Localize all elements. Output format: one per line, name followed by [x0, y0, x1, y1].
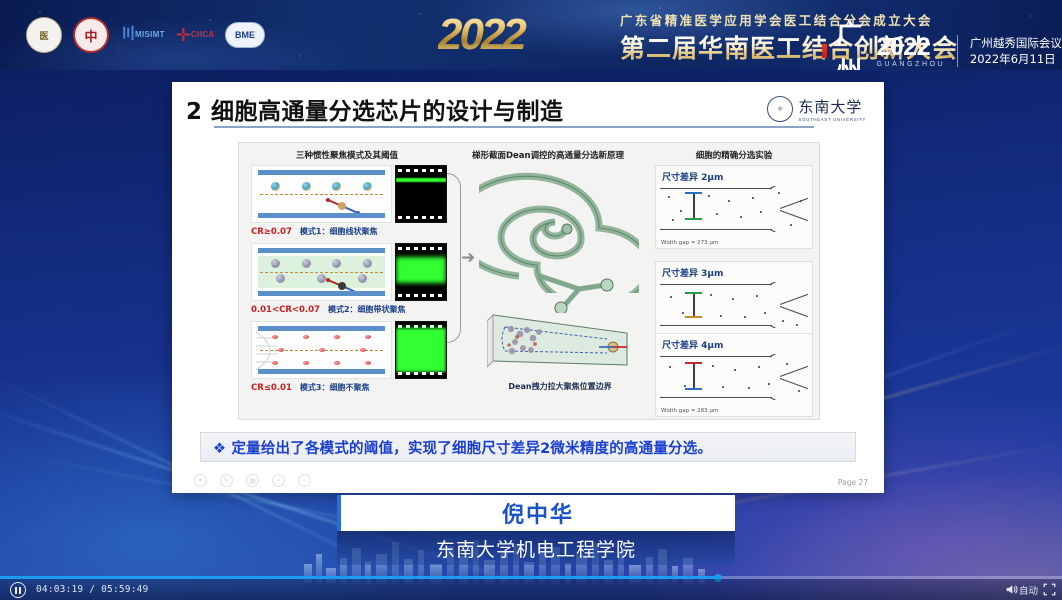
city-name-en: GUANGZHOU — [876, 61, 945, 68]
mode-1-description: 模式1：细胞线状聚焦 — [300, 226, 378, 237]
grouping-brace — [447, 173, 461, 343]
conclusion-banner: ❖ 定量给出了各模式的阈值，实现了细胞尺寸差异2微米精度的高通量分选。 — [200, 432, 856, 462]
mode-1-caption: CR≥0.07 模式1：细胞线状聚焦 — [251, 226, 447, 240]
time-display: 04:03:19 / 05:59:49 — [36, 584, 148, 595]
city-name: 广州 — [836, 14, 867, 70]
university-name-cn: 东南大学 — [798, 96, 866, 117]
fullscreen-button[interactable] — [1043, 583, 1056, 596]
venue-name: 广州越秀国际会议中心 — [970, 35, 1062, 51]
speaker-name: 倪中华 — [502, 497, 574, 529]
university-name-en: SOUTHEAST UNIVERSITY — [798, 117, 866, 122]
channel-diagram — [251, 165, 392, 223]
conference-header-banner: 医 中 〣MISIMT ✛CHCA BME 2022 广东省精准医学应用学会医工… — [0, 0, 1062, 70]
focusing-mode-3: CR≤0.01 模式3：细胞不聚焦 — [251, 321, 447, 396]
slide-tool-row: ● ✎ ▦ ⌕ ⋯ — [194, 474, 311, 487]
university-seal-icon: ⚛ — [767, 96, 793, 122]
mode-2-caption: 0.01<CR<0.07 模式2：细胞带状聚焦 — [251, 304, 447, 318]
misimt-logo: 〣MISIMT — [120, 16, 165, 54]
experiment-title: 尺寸差异 4µm — [662, 338, 723, 351]
mode-3-cr-value: CR≤0.01 — [251, 383, 292, 393]
fullscreen-icon — [1043, 583, 1056, 596]
event-date: 2022年6月11日 — [970, 51, 1062, 67]
mode-2-description: 模式2：细胞带状聚焦 — [328, 304, 406, 315]
conclusion-text: ❖ 定量给出了各模式的阈值，实现了细胞尺寸差异2微米精度的高通量分选。 — [213, 437, 712, 458]
quality-selector[interactable]: 自动 — [1019, 583, 1038, 597]
channel-diagram — [251, 321, 392, 379]
player-control-bar: 04:03:19 / 05:59:49 自动 — [0, 579, 1062, 600]
slide-content-area: 三种惯性聚焦模式及其阈值 梯形截面Dean调控的高通量分选新原理 细胞的精确分选… — [238, 142, 820, 420]
mode-3-caption: CR≤0.01 模式3：细胞不聚焦 — [251, 382, 447, 396]
guangzhou-venue-block: 广州 2022 GUANGZHOU 广州越秀国际会议中心 2022年6月11日 — [822, 14, 1062, 70]
flag-icon — [822, 44, 827, 58]
experiment-width-label: Width gap = 273 µm — [661, 240, 718, 246]
experiment-width-label: Width gap = 283 µm — [661, 408, 718, 414]
divider — [957, 35, 958, 67]
fluorescence-image — [395, 321, 447, 379]
middle-column-caption: Dean拽力拉大聚焦位置边界 — [471, 381, 649, 392]
experiment-title: 尺寸差异 3µm — [662, 266, 723, 279]
speaker-org-plate: 东南大学机电工程学院 — [337, 531, 735, 565]
mode-2-cr-value: 0.01<CR<0.07 — [251, 305, 320, 315]
mode-1-illustration — [251, 165, 447, 223]
speaker-organization: 东南大学机电工程学院 — [436, 535, 636, 562]
city-year: 2022 — [876, 35, 945, 60]
pause-button[interactable] — [10, 582, 26, 598]
zoom-icon[interactable]: ⌕ — [272, 474, 285, 487]
experiment-image — [660, 186, 808, 232]
speaker-name-plate: 倪中华 — [337, 495, 735, 531]
experiment-panel-4um: 尺寸差异 4µm Width gap = — [655, 333, 813, 417]
mode-3-description: 模式3：细胞不聚焦 — [300, 382, 370, 393]
trapezoid-cross-section-icon — [487, 303, 637, 377]
sponsor-logo-row: 医 中 〣MISIMT ✛CHCA BME — [26, 16, 265, 54]
record-icon[interactable]: ● — [194, 474, 207, 487]
experiment-image — [660, 354, 808, 400]
fluorescence-image — [395, 243, 447, 301]
volume-button[interactable] — [1005, 583, 1018, 596]
experiment-image — [660, 282, 808, 328]
channel-diagram — [251, 243, 392, 301]
more-icon[interactable]: ⋯ — [298, 474, 311, 487]
force-vector-icon — [324, 276, 364, 296]
southeast-university-logo: ⚛ 东南大学 SOUTHEAST UNIVERSITY — [767, 96, 866, 122]
mode-3-illustration — [251, 321, 447, 379]
slide-header: 2 细胞高通量分选芯片的设计与制造 ⚛ 东南大学 SOUTHEAST UNIVE… — [186, 92, 872, 136]
mode-2-illustration — [251, 243, 447, 301]
gpmas-seal-logo: 医 — [26, 16, 62, 54]
year-2022-emblem: 2022 — [438, 8, 613, 62]
column-heading-2: 梯形截面Dean调控的高通量分选新原理 — [445, 149, 651, 161]
grid-icon[interactable]: ▦ — [246, 474, 259, 487]
spiral-channel-diagram: Dean拽力拉大聚焦位置边界 — [471, 165, 649, 421]
force-vector-icon — [324, 196, 364, 216]
column-heading-3: 细胞的精确分选实验 — [651, 149, 817, 161]
red-circular-logo: 中 — [73, 16, 109, 54]
experiment-title: 尺寸差异 2µm — [662, 170, 723, 183]
focusing-mode-1: CR≥0.07 模式1：细胞线状聚焦 — [251, 165, 447, 240]
column-heading-1: 三种惯性聚焦模式及其阈值 — [247, 149, 447, 161]
title-underline — [214, 126, 814, 128]
fluorescence-image — [395, 165, 447, 223]
mode-1-cr-value: CR≥0.07 — [251, 227, 292, 237]
slide-page-number: Page 27 — [838, 478, 868, 487]
presentation-slide: 2 细胞高通量分选芯片的设计与制造 ⚛ 东南大学 SOUTHEAST UNIVE… — [172, 82, 884, 493]
focusing-mode-2: 0.01<CR<0.07 模式2：细胞带状聚焦 — [251, 243, 447, 318]
experiment-panel-2um: 尺寸差异 2µm — [655, 165, 813, 249]
video-player-stage: 医 中 〣MISIMT ✛CHCA BME 2022 广东省精准医学应用学会医工… — [0, 0, 1062, 600]
volume-icon — [1005, 583, 1018, 596]
bme-logo: BME — [225, 16, 265, 54]
pen-icon[interactable]: ✎ — [220, 474, 233, 487]
chca-logo: ✛CHCA — [176, 16, 214, 54]
